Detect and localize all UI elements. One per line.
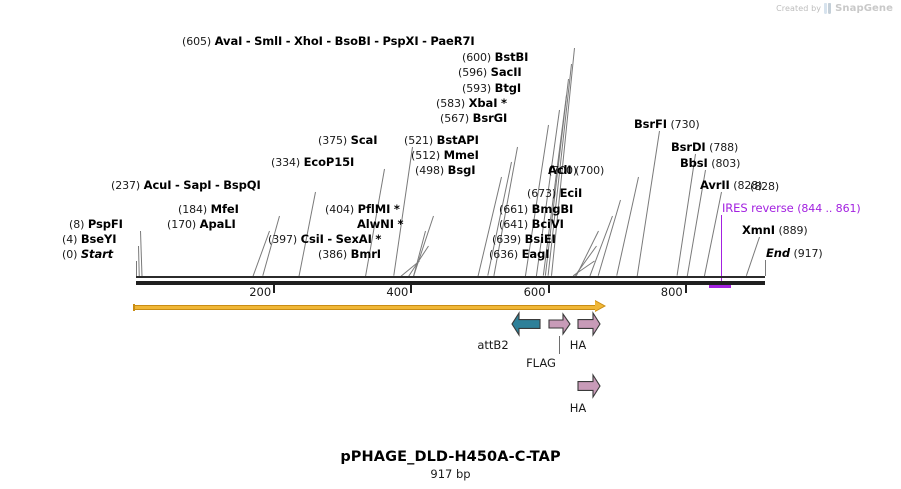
restriction-site-label[interactable]: (661) BmgBI — [499, 203, 573, 216]
enzyme-name: BmrI — [351, 247, 381, 261]
enzyme-name: AvaI — [215, 34, 243, 48]
restriction-site-label[interactable]: (583) XbaI * — [436, 97, 507, 110]
site-position: (788) — [709, 141, 738, 154]
enzyme-name: Start — [81, 247, 113, 261]
orf-arrow-body[interactable] — [133, 305, 596, 310]
enzyme-separator: - — [286, 34, 291, 48]
site-position: (237) — [111, 179, 140, 192]
enzyme-name: BsgI — [448, 163, 476, 177]
enzyme-separator: - — [215, 178, 220, 192]
site-position: (397) — [268, 233, 297, 246]
restriction-site-label[interactable]: (4) BseYI — [62, 233, 116, 246]
site-leader-line — [746, 237, 760, 276]
ruler-tick-label: 600 — [486, 285, 546, 299]
enzyme-separator: - — [422, 34, 427, 48]
site-position: (567) — [440, 112, 469, 125]
enzyme-name: ScaI — [351, 133, 378, 147]
site-leader-line — [677, 154, 696, 276]
feature-arrow[interactable] — [577, 312, 601, 336]
restriction-site-label[interactable]: (375) ScaI — [318, 134, 377, 147]
site-position: (917) — [794, 247, 823, 260]
enzyme-name: BmgBI — [532, 202, 574, 216]
enzyme-name: ApaLI — [200, 217, 236, 231]
enzyme-name: BspQI — [223, 178, 260, 192]
restriction-site-label[interactable]: (636) EagI — [489, 248, 549, 261]
site-position: (334) — [271, 156, 300, 169]
watermark-prefix: Created by — [776, 4, 821, 13]
restriction-site-label[interactable]: XmnI (889) — [742, 224, 808, 237]
restriction-site-label[interactable]: (567) BsrGI — [440, 112, 507, 125]
restriction-site-label[interactable]: (170) ApaLI — [167, 218, 236, 231]
restriction-site-label[interactable]: (641) BciVI — [499, 218, 564, 231]
ruler-tick — [273, 285, 275, 293]
ruler-tick-label: 200 — [211, 285, 271, 299]
plasmid-length: 917 bp — [0, 467, 901, 481]
ruler-tick — [548, 285, 550, 293]
site-position: (375) — [318, 134, 347, 147]
enzyme-name: SacII — [491, 65, 522, 79]
enzyme-name: PflMI — [358, 202, 391, 216]
enzyme-separator: - — [175, 178, 180, 192]
site-position: (498) — [415, 164, 444, 177]
enzyme-name: MfeI — [211, 202, 239, 216]
site-position: (605) — [182, 35, 211, 48]
star-activity-marker: * — [397, 217, 403, 231]
restriction-site-label[interactable]: (600) BstBI — [462, 51, 528, 64]
site-position: (700) — [575, 164, 604, 177]
restriction-site-label[interactable]: (334) EcoP15I — [271, 156, 354, 169]
enzyme-separator: - — [326, 34, 331, 48]
site-leader-line — [637, 131, 660, 276]
enzyme-name: End — [766, 246, 790, 260]
restriction-site-label[interactable]: AlwNI * — [357, 218, 403, 230]
restriction-site-label[interactable]: BsrFI (730) — [634, 118, 700, 131]
feature-range: (844 .. 861) — [797, 202, 860, 215]
site-position: (889) — [778, 224, 807, 237]
enzyme-name: SmlI — [254, 34, 282, 48]
enzyme-name: EcoP15I — [304, 155, 355, 169]
site-position: (0) — [62, 248, 77, 261]
enzyme-name: AlwNI — [357, 217, 394, 231]
orf-arrow-start-cap — [133, 304, 135, 311]
feature-arrow[interactable] — [548, 313, 571, 335]
feature-arrow-label: HA — [548, 401, 608, 415]
restriction-site-label[interactable]: (593) BtgI — [462, 82, 521, 95]
enzyme-name: AclI — [548, 163, 572, 177]
site-position: (512) — [411, 149, 440, 162]
star-activity-marker: * — [394, 202, 400, 216]
feature-arrow[interactable] — [511, 312, 541, 336]
feature-annotation-label[interactable]: IRES reverse (844 .. 861) — [722, 202, 861, 215]
enzyme-name: CsiI — [301, 232, 324, 246]
restriction-site-label[interactable]: (605) AvaI - SmlI - XhoI - BsoBI - PspXI… — [182, 35, 475, 48]
site-position: (593) — [462, 82, 491, 95]
feature-arrow-label: FLAG — [511, 356, 571, 370]
site-position: (583) — [436, 97, 465, 110]
enzyme-name: AcuI — [144, 178, 172, 192]
site-position: (4) — [62, 233, 77, 246]
site-position: (803) — [711, 157, 740, 170]
site-position: (184) — [178, 203, 207, 216]
site-leader-line — [616, 177, 639, 276]
enzyme-name: PspXI — [383, 34, 419, 48]
site-position: (596) — [458, 66, 487, 79]
restriction-site-label[interactable]: BbsI (803) — [680, 157, 740, 170]
site-leader-line — [765, 260, 766, 276]
enzyme-name: AvrII — [700, 178, 730, 192]
restriction-site-label[interactable]: (521) BstAPI — [404, 134, 479, 147]
feature-name: IRES reverse — [722, 201, 794, 215]
enzyme-name: XhoI — [294, 34, 323, 48]
snapgene-logo-icon — [824, 3, 832, 14]
star-activity-marker: * — [375, 232, 381, 246]
restriction-site-label[interactable]: (0) Start — [62, 248, 113, 261]
enzyme-name: PspFI — [88, 217, 123, 231]
site-position: (600) — [462, 51, 491, 64]
enzyme-name: SapI — [183, 178, 211, 192]
page-title: pPHAGE_DLD-H450A-C-TAP — [0, 449, 901, 465]
ruler-tick-label: 400 — [348, 285, 408, 299]
enzyme-name: BciVI — [532, 217, 564, 231]
enzyme-name: BsrGI — [473, 111, 508, 125]
site-leader-line — [704, 192, 722, 276]
enzyme-name: EciI — [560, 186, 583, 200]
enzyme-name: BsoBI — [335, 34, 371, 48]
enzyme-name: BseYI — [81, 232, 117, 246]
enzyme-name: BsiEI — [525, 232, 556, 246]
site-position: (636) — [489, 248, 518, 261]
snapgene-watermark: Created by SnapGene — [776, 3, 893, 14]
site-position: (828) — [733, 179, 762, 192]
enzyme-name: BsrFI — [634, 117, 667, 131]
enzyme-name: SexAI — [336, 232, 372, 246]
site-position: (639) — [492, 233, 521, 246]
site-position: (404) — [325, 203, 354, 216]
enzyme-name: BstAPI — [437, 133, 479, 147]
restriction-site-label[interactable]: End (917) — [766, 247, 823, 260]
enzyme-name: PaeR7I — [430, 34, 474, 48]
watermark-brand: SnapGene — [835, 3, 893, 14]
restriction-site-label[interactable]: (397) CsiI - SexAI * — [268, 233, 381, 246]
backbone-line-top — [136, 276, 765, 278]
site-leader-line — [136, 261, 137, 276]
site-position: (661) — [499, 203, 528, 216]
restriction-site-label[interactable]: (404) PflMI * — [325, 203, 400, 216]
ruler-tick — [410, 285, 412, 293]
feature-span-bar[interactable] — [709, 285, 731, 288]
site-position: (386) — [318, 248, 347, 261]
site-position: (641) — [499, 218, 528, 231]
site-position: (170) — [167, 218, 196, 231]
enzyme-separator: - — [327, 232, 332, 246]
site-leader-line — [140, 231, 142, 276]
ruler-tick-label: 800 — [623, 285, 683, 299]
restriction-site-label[interactable]: (512) MmeI — [411, 149, 479, 162]
orf-arrow-head — [595, 301, 604, 311]
site-position: (521) — [404, 134, 433, 147]
enzyme-separator: - — [374, 34, 379, 48]
enzyme-name: BsrDI — [671, 140, 706, 154]
restriction-site-label[interactable]: (498) BsgI — [415, 164, 475, 177]
restriction-site-label[interactable]: BsrDI (788) — [671, 141, 738, 154]
feature-arrow-label: HA — [548, 338, 608, 352]
restriction-site-label[interactable]: (8) PspFI — [69, 218, 123, 231]
site-leader-line — [138, 246, 140, 276]
site-position: (673) — [527, 187, 556, 200]
site-position: (8) — [69, 218, 84, 231]
enzyme-name: MmeI — [444, 148, 479, 162]
restriction-site-label[interactable]: (237) AcuI - SapI - BspQI — [111, 179, 261, 192]
restriction-site-label[interactable]: (184) MfeI — [178, 203, 239, 216]
enzyme-name: XbaI — [469, 96, 498, 110]
enzyme-separator: - — [246, 34, 251, 48]
star-activity-marker: * — [501, 96, 507, 110]
enzyme-name: XmnI — [742, 223, 775, 237]
ruler-tick — [685, 285, 687, 293]
restriction-site-label[interactable]: (386) BmrI — [318, 248, 381, 261]
feature-arrow[interactable] — [577, 374, 601, 398]
restriction-site-label[interactable]: (596) SacII — [458, 66, 522, 79]
enzyme-name: BstBI — [495, 50, 529, 64]
snapgene-map-canvas: Created by SnapGene (605) AvaI - SmlI - … — [0, 0, 901, 489]
enzyme-name: EagI — [522, 247, 550, 261]
enzyme-name: BbsI — [680, 156, 708, 170]
restriction-site-label[interactable]: AvrII (828) — [700, 179, 762, 192]
restriction-site-label[interactable]: AclI (700) — [548, 164, 604, 177]
feature-arrow-label: attB2 — [463, 338, 523, 352]
site-position: (730) — [670, 118, 699, 131]
enzyme-name: BtgI — [495, 81, 521, 95]
restriction-site-label[interactable]: (673) EciI — [527, 187, 582, 200]
restriction-site-label[interactable]: (639) BsiEI — [492, 233, 556, 246]
